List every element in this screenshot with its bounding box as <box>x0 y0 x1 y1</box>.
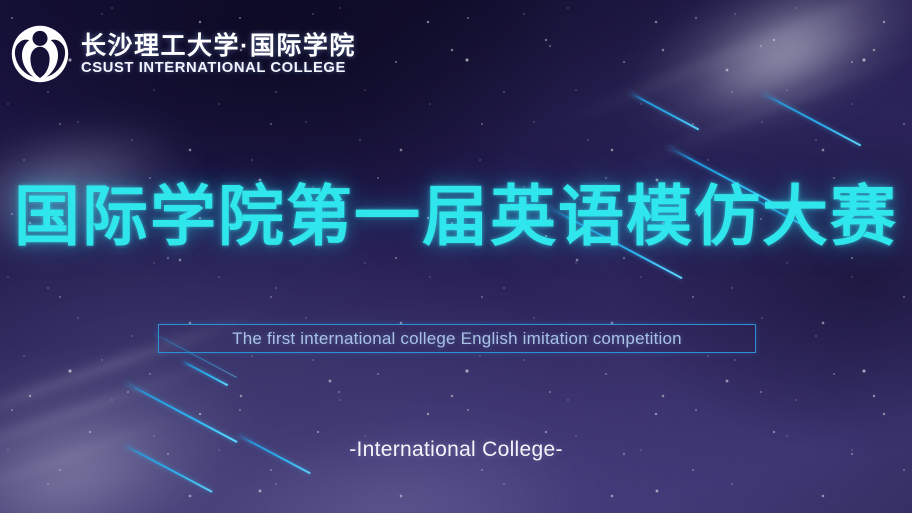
logo-text-lockup: 长沙理工大学·国际学院 CSUST INTERNATIONAL COLLEGE <box>81 33 356 76</box>
slide-subtitle: The first international college English … <box>232 329 682 349</box>
logo-english-name: CSUST INTERNATIONAL COLLEGE <box>81 60 352 76</box>
subtitle-frame: The first international college English … <box>158 324 756 353</box>
slide-title: 国际学院第一届英语模仿大赛 <box>0 183 912 249</box>
csust-emblem-icon <box>10 24 70 84</box>
presentation-slide: 长沙理工大学·国际学院 CSUST INTERNATIONAL COLLEGE … <box>0 0 912 513</box>
logo-chinese-name: 长沙理工大学·国际学院 <box>81 33 356 59</box>
college-logo: 长沙理工大学·国际学院 CSUST INTERNATIONAL COLLEGE <box>10 24 356 84</box>
slide-footer-organizer: -International College- <box>0 438 912 462</box>
